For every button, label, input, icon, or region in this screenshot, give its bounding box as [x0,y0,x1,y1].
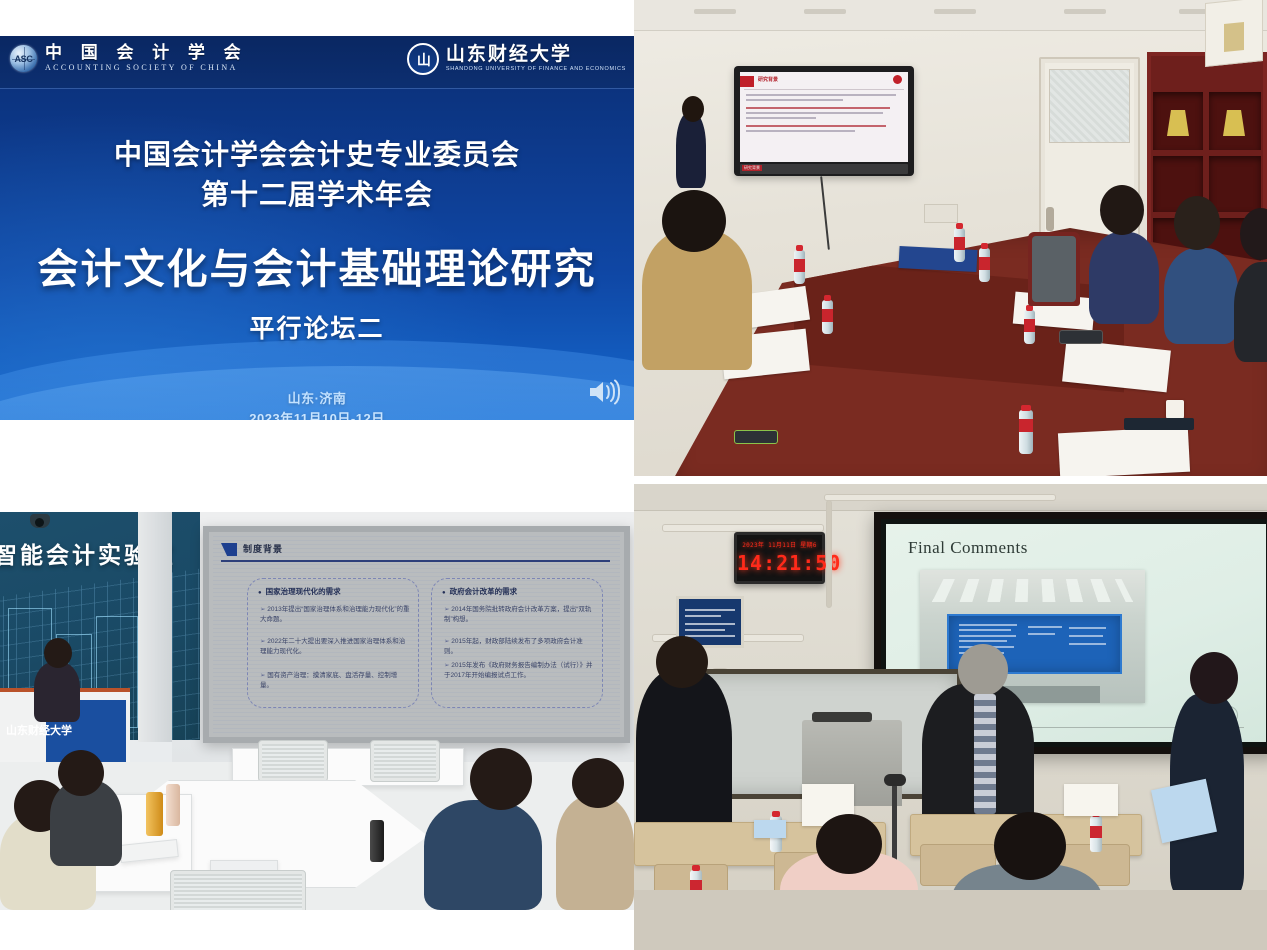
photo-accounting-lab: 智能会计实验室 制度背景 国家治理现代化的需求 2013年提出“国家治理体系和治… [0,512,634,910]
whiteboard-slide-body [746,94,902,135]
water-bottle [1024,310,1035,344]
asc-mark-label: ASC [10,45,37,72]
lab-presenter-head [44,638,72,668]
document-sheet [1058,427,1190,476]
globe-icon: ASC [10,45,37,72]
black-tumbler [370,820,384,862]
right-block-item: 2015年起，财政部陆续发布了多项政府会计准则。 [444,637,594,657]
presenter-head [682,96,704,122]
moderator-head [656,636,708,688]
water-bottle [822,300,833,334]
rear-chair [258,740,328,782]
water-bottle [954,228,965,262]
hanging-microphone [826,500,832,608]
audience-member [424,800,542,910]
front-chair [170,870,306,910]
conference-title-slide: ASC 中 国 会 计 学 会 ACCOUNTING SOCIETY OF CH… [0,36,634,420]
whiteboard-bezel: 研究背景 [740,164,908,174]
left-block-heading: 国家治理现代化的需求 [258,586,341,597]
amber-bottle [146,792,163,836]
notebook [1124,418,1194,430]
attendee [1089,232,1159,324]
led-clock-date: 2023年 11月11日 星期6 [737,540,822,549]
wall-conduit [662,524,824,532]
asc-logo: ASC 中 国 会 计 学 会 ACCOUNTING SOCIETY OF CH… [10,44,248,74]
sdufe-mark-label: 山 [417,50,429,70]
notebook-sheet [754,820,786,838]
photo-meeting-room: 研究背景 研究背景 [634,0,1267,476]
sdufe-name-cn: 山东财经大学 [446,45,626,65]
speaker-head [958,644,1008,696]
lab-slide-left-block: 国家治理现代化的需求 2013年提出“国家治理体系和治理能力现代化”的重大命题。… [247,578,419,708]
rear-chair [370,740,440,782]
assistant-head [1190,652,1238,704]
left-block-item: 2022年二十大提出要深入推进国家治理体系和治理能力现代化。 [260,637,410,657]
audience-head [470,748,532,810]
whiteboard-slide-seal-icon [893,75,902,84]
document-sheet [898,246,977,272]
ceiling-camera-icon [30,514,50,528]
lecture-floor [634,890,1267,950]
lab-slide-title: 制度背景 [243,542,283,555]
slide-dates: 2023年11月10日-12日 [0,409,634,420]
photo-lecture-hall: 2023年 11月11日 星期6 14:21:50 Final Comments [634,484,1267,950]
slide-subtitle: 平行论坛二 [0,309,634,345]
slide-headline: 会计文化与会计基础理论研究 [0,235,634,295]
microphone-head-icon [884,774,906,786]
attendee-head [1174,196,1220,250]
water-bottle [1090,816,1102,852]
led-clock-time: 14:21:50 [737,551,822,575]
water-bottle [1019,410,1033,454]
right-block-item: 2014年国务院批转政府会计改革方案，提出“双轨制”构想。 [444,605,594,625]
audience-head [572,758,624,808]
left-block-item: 国有资产治理：摸清家底、盘活存量、控制增量。 [260,671,410,691]
asc-name-cn: 中 国 会 计 学 会 [45,44,248,62]
committee-line-1: 中国会计学会会计史专业委员会 [0,135,634,175]
attendee-head [1100,185,1144,235]
slide-body: 中国会计学会会计史专业委员会 第十二届学术年会 会计文化与会计基础理论研究 平行… [0,89,634,420]
wall-certificate [1205,0,1263,67]
presenter [676,112,706,188]
projected-slide-title: Final Comments [908,538,1028,558]
water-bottle [979,248,990,282]
water-bottle [794,250,805,284]
lab-slide-right-block: 政府会计改革的需求 2014年国务院批转政府会计改革方案，提出“双轨制”构想。 … [431,578,603,708]
attendee-head [662,190,726,252]
whiteboard-slide-title: 研究背景 [758,76,778,83]
lab-pillar [138,512,172,742]
committee-line-2: 第十二届学术年会 [0,175,634,215]
slide-place: 山东·济南 [0,389,634,409]
wall-socket-plate [924,204,958,223]
projection-screen: 制度背景 国家治理现代化的需求 2013年提出“国家治理体系和治理能力现代化”的… [203,526,630,743]
slide-flag-icon [221,543,237,556]
left-block-item: 2013年提出“国家治理体系和治理能力现代化”的重大命题。 [260,605,410,625]
thermos [166,784,180,826]
right-block-heading: 政府会计改革的需求 [442,586,517,597]
speaker-icon[interactable] [586,378,620,406]
slide-accent-bar [740,76,754,87]
mobile-phone [1059,330,1103,344]
interactive-whiteboard: 研究背景 研究背景 [734,66,914,176]
attendee [1164,248,1238,344]
audience-head [816,814,882,874]
whiteboard-slide: 研究背景 [740,72,908,162]
mountain-emblem-icon: 山 [407,43,439,75]
slide-rule [744,89,904,90]
audience-member [556,796,634,910]
office-chair [1028,232,1080,306]
collage-canvas: ASC 中 国 会 计 学 会 ACCOUNTING SOCIETY OF CH… [0,0,1267,950]
mobile-phone [734,430,778,444]
ceiling-conduit [824,494,1056,501]
whiteboard-tag: 研究背景 [742,165,762,171]
right-block-item: 2015年发布《政府财务报告编制办法（试行）》并于2017年开始编报试点工作。 [444,661,594,681]
asc-name-en: ACCOUNTING SOCIETY OF CHINA [45,62,248,74]
sdufe-name-en: SHANDONG UNIVERSITY OF FINANCE AND ECONO… [446,65,626,74]
lab-presenter [34,662,80,722]
audience-head [58,750,104,796]
lab-slide-rule [221,560,610,562]
led-clock: 2023年 11月11日 星期6 14:21:50 [734,532,825,584]
speaker-scarf [974,694,996,814]
stacked-papers [1064,784,1118,816]
handout-folder [1151,779,1217,843]
sdufe-logo: 山 山东财经大学 SHANDONG UNIVERSITY OF FINANCE … [407,43,626,75]
lab-slide: 制度背景 国家治理现代化的需求 2013年提出“国家治理体系和治理能力现代化”的… [213,536,620,733]
meeting-ceiling [634,0,1267,31]
audience-head [994,812,1066,880]
